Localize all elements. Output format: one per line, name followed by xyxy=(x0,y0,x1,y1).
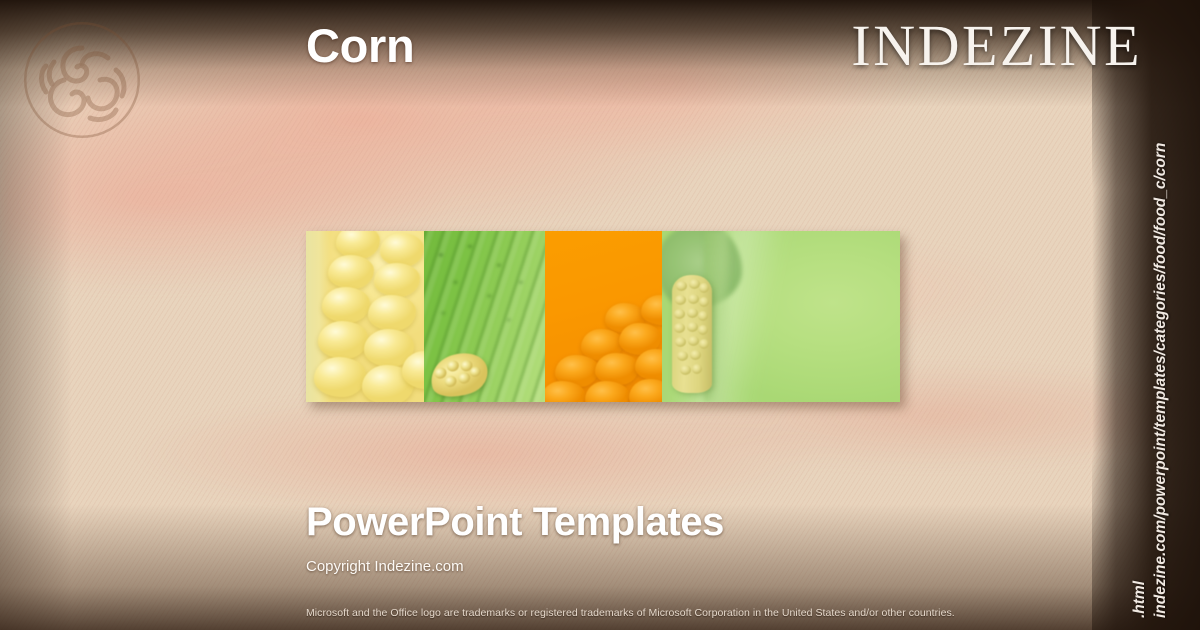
page-title: Corn xyxy=(306,18,414,73)
gallery-panel-4 xyxy=(662,231,900,402)
corn-kernel xyxy=(318,321,368,359)
corn-kernel xyxy=(380,233,424,267)
corn-kernel xyxy=(374,263,420,297)
cob-bump xyxy=(698,325,708,335)
cob-bump xyxy=(692,364,702,374)
cob-bump xyxy=(680,365,691,375)
gallery-panel-3 xyxy=(545,231,662,402)
vertical-url-block: indezine.com/powerpoint/templates/catego… xyxy=(1136,6,1194,618)
cob-bump xyxy=(676,281,687,291)
cob-bump xyxy=(688,336,699,346)
cob-bump xyxy=(699,339,709,349)
cob-bump xyxy=(699,297,709,307)
url-extension-text: .html xyxy=(1131,581,1149,618)
corn-kernel xyxy=(322,287,370,323)
corn-kernel xyxy=(585,381,629,402)
subtitle-powerpoint-templates: PowerPoint Templates xyxy=(306,500,724,545)
corn-kernel xyxy=(328,255,374,289)
cob-bump xyxy=(674,309,685,319)
gallery-panel-2 xyxy=(424,231,545,402)
cluster-bump xyxy=(445,359,460,373)
slide-canvas: Corn INDEZINE xyxy=(0,0,1200,630)
cob-bump xyxy=(687,308,698,318)
cob-bump xyxy=(674,323,685,333)
cob-bump xyxy=(690,350,701,360)
cluster-bump xyxy=(443,374,458,388)
cob-bump xyxy=(687,322,698,332)
celtic-spiral-ornament-icon xyxy=(20,18,144,142)
cluster-bump xyxy=(469,365,483,378)
corn-kernel xyxy=(368,295,416,331)
corn-kernel xyxy=(314,357,366,397)
url-path-text: indezine.com/powerpoint/templates/catego… xyxy=(1152,143,1170,618)
cob-bump xyxy=(699,283,709,293)
cob-bump xyxy=(698,311,708,321)
trademark-disclaimer: Microsoft and the Office logo are tradem… xyxy=(306,607,955,619)
cob-bump xyxy=(677,351,688,361)
cob-bump xyxy=(675,295,686,305)
cob-bump xyxy=(688,294,699,304)
corn-image-strip xyxy=(306,231,900,402)
baby-corn-cob xyxy=(672,275,712,393)
copyright-text: Copyright Indezine.com xyxy=(306,558,464,575)
gallery-panel-1 xyxy=(306,231,424,402)
brand-logo-indezine: INDEZINE xyxy=(851,12,1142,79)
cob-bump xyxy=(675,337,686,347)
